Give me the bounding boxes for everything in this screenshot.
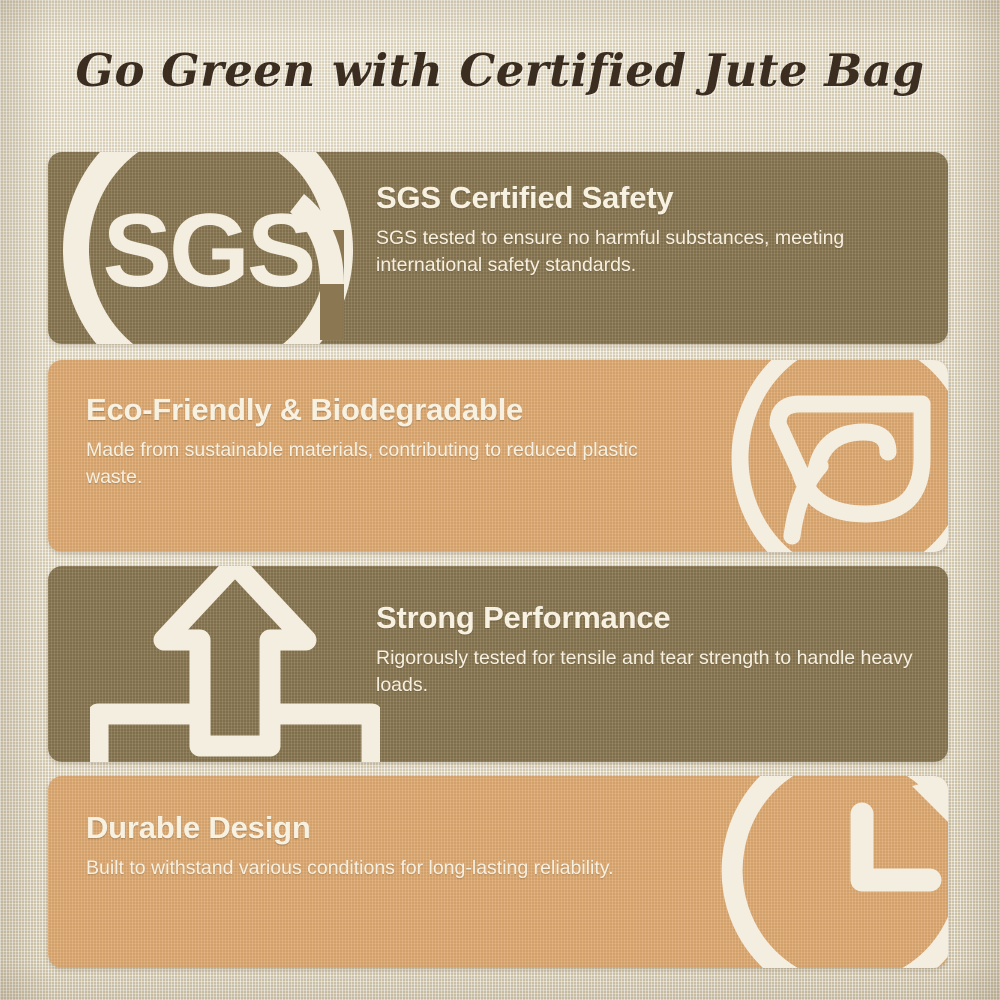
card-text-block: Durable Design Built to withstand variou… (86, 812, 676, 882)
card-heading: SGS Certified Safety (376, 182, 936, 215)
card-text-block: Strong Performance Rigorously tested for… (376, 602, 936, 699)
card-body-text: Made from sustainable materials, contrib… (86, 437, 676, 492)
card-heading: Eco-Friendly & Biodegradable (86, 394, 676, 427)
feature-card-eco-friendly-biodegradable[interactable]: Eco-Friendly & Biodegradable Made from s… (48, 360, 948, 552)
feature-card-durable-design[interactable]: Durable Design Built to withstand variou… (48, 776, 948, 968)
sgs-wordmark: SGS (103, 193, 314, 309)
card-body-text: SGS tested to ensure no harmful substanc… (376, 225, 936, 280)
leaf-icon (708, 360, 948, 552)
feature-card-strong-performance[interactable]: Strong Performance Rigorously tested for… (48, 566, 948, 762)
card-heading: Durable Design (86, 812, 676, 845)
card-text-block: SGS Certified Safety SGS tested to ensur… (376, 182, 936, 279)
box-up-arrow-icon (90, 566, 380, 762)
card-heading: Strong Performance (376, 602, 936, 635)
card-body-text: Built to withstand various conditions fo… (86, 855, 676, 882)
clock-restore-icon (716, 776, 948, 968)
card-body-text: Rigorously tested for tensile and tear s… (376, 645, 936, 700)
page-title: Go Green with Certified Jute Bag (0, 44, 1000, 97)
feature-card-sgs-certified-safety[interactable]: SGS SGS Certified Safety SGS tested to e… (48, 152, 948, 344)
sgs-logo-icon: SGS (58, 152, 358, 344)
card-text-block: Eco-Friendly & Biodegradable Made from s… (86, 394, 676, 491)
infographic-poster: Go Green with Certified Jute Bag SGS SGS… (0, 0, 1000, 1000)
